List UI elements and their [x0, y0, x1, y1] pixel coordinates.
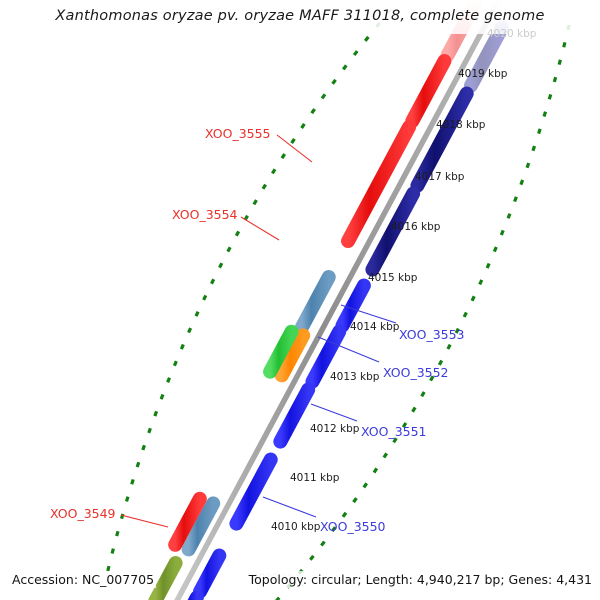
gene-label-xoo_3555[interactable]: XOO_3555 — [205, 126, 271, 141]
gene-label-xoo_3549[interactable]: XOO_3549 — [50, 506, 116, 521]
ruler-tick-dashes — [107, 0, 439, 575]
ruler-arc-inner — [237, 25, 569, 600]
gene-label-leader-line — [241, 217, 279, 240]
gene-label-leader-line — [263, 497, 316, 517]
gene-label-leader-line — [121, 515, 168, 527]
gene-feature[interactable] — [155, 563, 175, 600]
gene-feature[interactable] — [342, 286, 363, 326]
gene-label-leader-line — [311, 404, 357, 421]
gene-track-outer[interactable] — [155, 5, 474, 600]
page-title: Xanthomonas oryzae pv. oryzae MAFF 31101… — [0, 8, 600, 24]
ruler-arc-outer — [107, 0, 439, 575]
gene-feature[interactable] — [236, 460, 270, 524]
genome-map-viewer: Xanthomonas oryzae pv. oryzae MAFF 31101… — [0, 0, 600, 600]
gene-label-xoo_3554[interactable]: XOO_3554 — [172, 207, 238, 222]
gene-feature[interactable] — [372, 194, 413, 270]
genome-backbone — [172, 0, 504, 600]
gene-label-xoo_3552[interactable]: XOO_3552 — [383, 365, 449, 380]
gene-label-xoo_3550[interactable]: XOO_3550 — [320, 519, 386, 534]
ruler-tick-dashes — [237, 25, 569, 600]
gene-feature[interactable] — [471, 28, 502, 86]
gene-label-xoo_3551[interactable]: XOO_3551 — [361, 424, 427, 439]
gene-feature[interactable] — [200, 556, 219, 592]
gene-label-xoo_3553[interactable]: XOO_3553 — [399, 327, 465, 342]
